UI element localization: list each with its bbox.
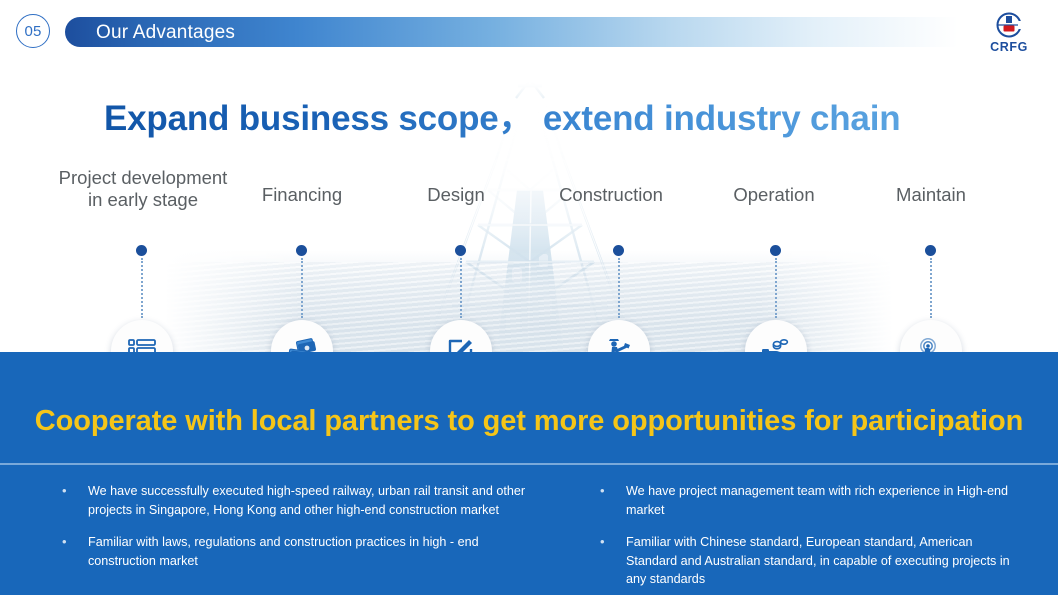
crfg-globe-logo-icon <box>994 12 1024 40</box>
stage-dot-3 <box>613 245 624 256</box>
company-logo: CRFG <box>978 12 1040 56</box>
list-item: • Familiar with Chinese standard, Europe… <box>600 533 1020 589</box>
band-divider <box>0 463 1058 465</box>
stage-connector-1 <box>301 258 303 318</box>
stage-label-design: Design <box>382 184 530 206</box>
stage-connector-0 <box>141 258 143 318</box>
section-number-badge: 05 <box>16 14 50 48</box>
bullet-text: We have project management team with ric… <box>626 482 1020 519</box>
bullet-text: Familiar with laws, regulations and cons… <box>88 533 532 570</box>
logo-wordmark: CRFG <box>978 41 1040 54</box>
stage-label-operation: Operation <box>696 184 852 206</box>
stage-dot-0 <box>136 245 147 256</box>
stage-label-financing: Financing <box>222 184 382 206</box>
stage-dot-1 <box>296 245 307 256</box>
bullet-marker: • <box>62 533 88 570</box>
bullet-column-right: • We have project management team with r… <box>600 482 1020 595</box>
page-title: Expand business scope， extend industry c… <box>104 90 900 141</box>
bullet-marker: • <box>600 533 626 589</box>
stage-dot-4 <box>770 245 781 256</box>
stage-connector-4 <box>775 258 777 318</box>
slide-header: 05 Our Advantages <box>0 0 1058 58</box>
bullet-text: We have successfully executed high-speed… <box>88 482 532 519</box>
list-item: • Familiar with laws, regulations and co… <box>62 533 532 570</box>
bullet-column-left: • We have successfully executed high-spe… <box>62 482 532 584</box>
stage-label-construction: Construction <box>533 184 689 206</box>
stage-dot-2 <box>455 245 466 256</box>
stage-dot-5 <box>925 245 936 256</box>
band-headline: Cooperate with local partners to get mor… <box>0 405 1058 438</box>
list-item: • We have project management team with r… <box>600 482 1020 519</box>
stage-connector-3 <box>618 258 620 318</box>
slide-root: 05 Our Advantages CRFG Expand business s… <box>0 0 1058 595</box>
stage-connector-2 <box>460 258 462 318</box>
stage-label-maintain: Maintain <box>855 184 1007 206</box>
section-title-text: Our Advantages <box>96 22 235 44</box>
bullet-text: Familiar with Chinese standard, European… <box>626 533 1020 589</box>
list-item: • We have successfully executed high-spe… <box>62 482 532 519</box>
stage-connector-5 <box>930 258 932 318</box>
stage-label-project-development: Project development in early stage <box>45 167 241 211</box>
bullet-marker: • <box>600 482 626 519</box>
bullet-marker: • <box>62 482 88 519</box>
